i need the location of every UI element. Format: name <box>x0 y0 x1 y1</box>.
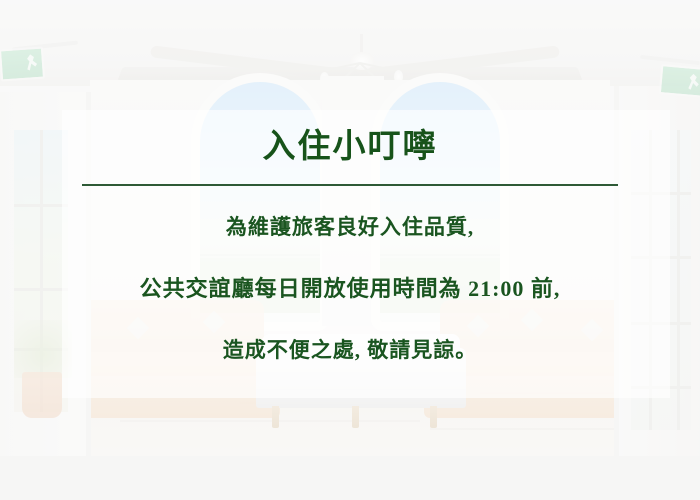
potted-plant-pot <box>22 372 62 418</box>
sofa-leg <box>430 406 437 428</box>
running-man-icon <box>687 73 700 90</box>
exit-sign-left <box>0 47 45 82</box>
sofa-leg <box>272 406 279 428</box>
exit-sign-right <box>659 64 700 98</box>
notice-line-1: 為維護旅客良好入住品質, <box>0 217 700 238</box>
sofa-leg <box>352 406 359 428</box>
notice-line-2: 公共交誼廳每日開放使用時間為 21:00 前, <box>0 278 700 300</box>
notice-title: 入住小叮嚀 <box>0 131 700 164</box>
slide-canvas: 入住小叮嚀 為維護旅客良好入住品質, 公共交誼廳每日開放使用時間為 21:00 … <box>0 0 700 500</box>
bottom-band <box>0 456 700 500</box>
running-man-icon <box>25 54 38 71</box>
door-mullion-horizontal <box>14 204 68 207</box>
notice-line-3: 造成不便之處, 敬請見諒。 <box>0 340 700 361</box>
